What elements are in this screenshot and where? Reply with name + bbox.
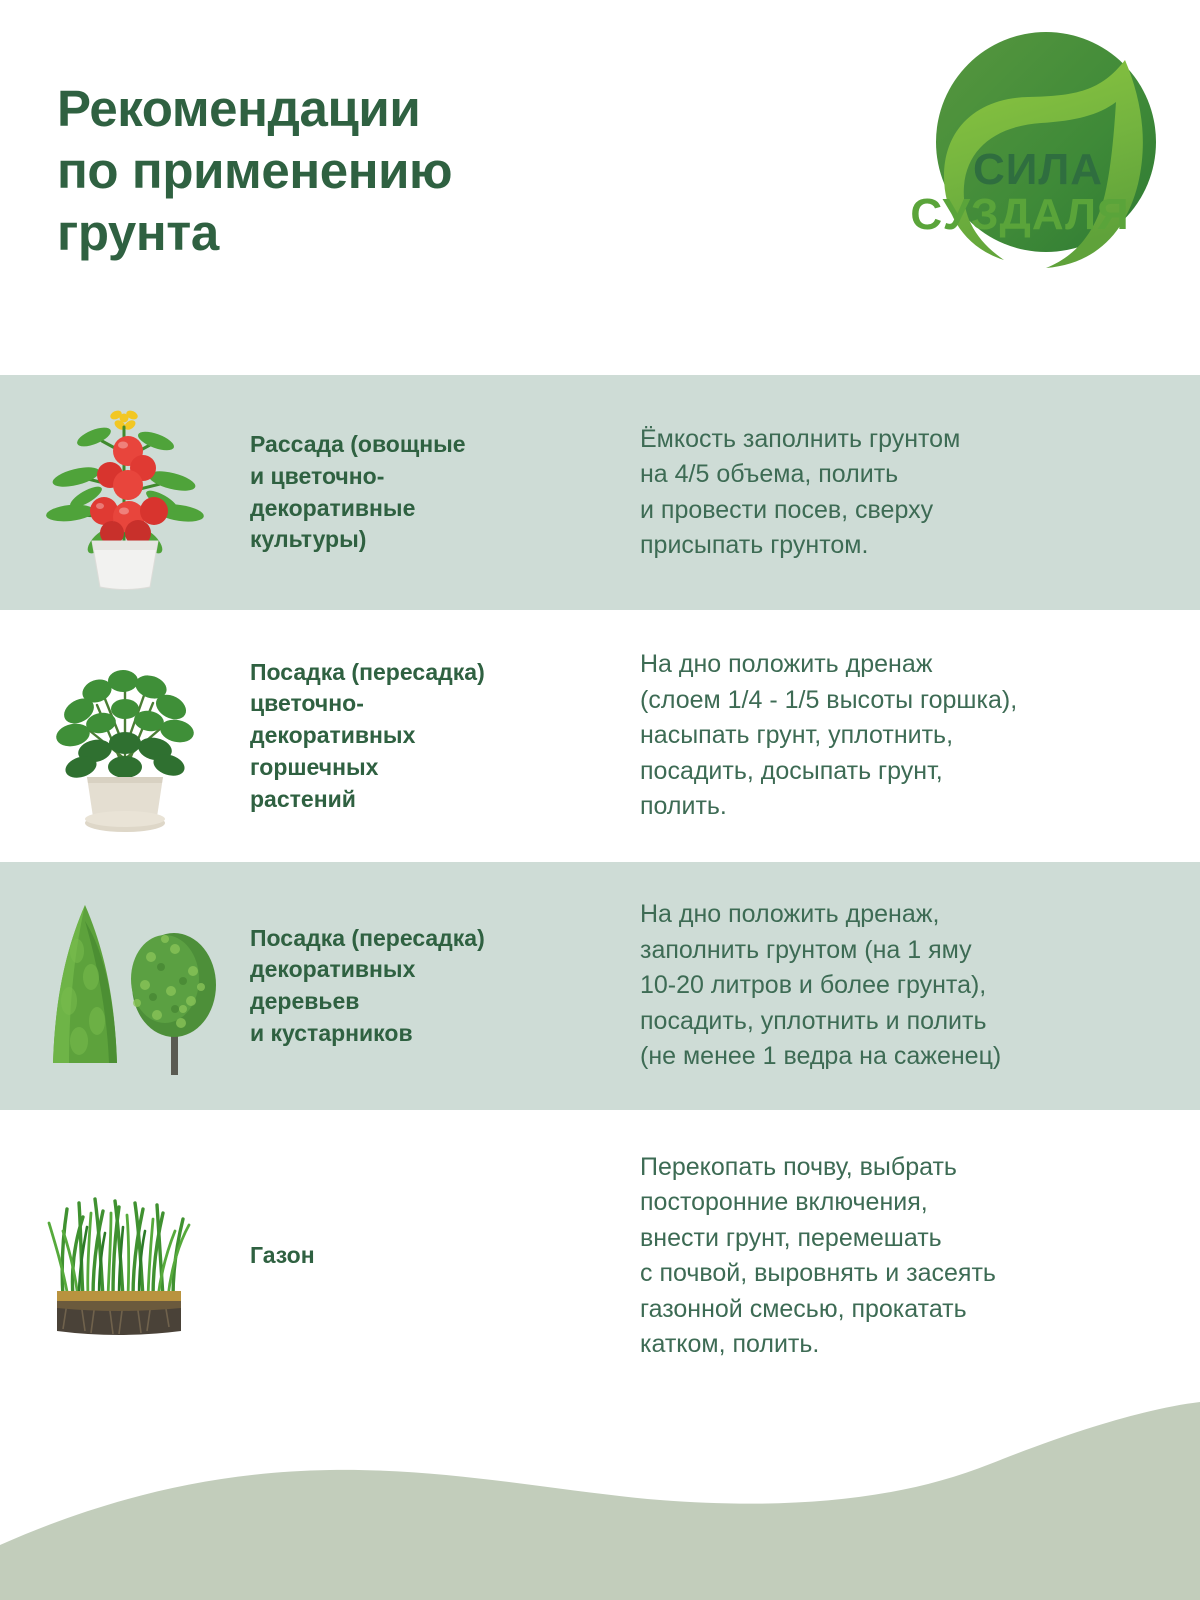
logo-text-suzdalya: СУЗДАЛЯ (910, 190, 1129, 239)
sila-suzdalya-logo: СИЛА СУЗДАЛЯ (900, 16, 1172, 278)
row-image-cell (0, 1110, 250, 1402)
row-image-cell (0, 610, 250, 862)
row-label-cell: Рассада (овощные и цветочно- декоративны… (250, 429, 640, 556)
logo-text-sila: СИЛА (973, 145, 1103, 194)
row-label: Посадка (пересадка) декоративных деревье… (250, 923, 620, 1050)
page-header: Рекомендации по применению грунта (0, 0, 1200, 375)
row-description: На дно положить дренаж (слоем 1/4 - 1/5 … (640, 647, 1160, 825)
page-title: Рекомендации по применению грунта (57, 78, 452, 265)
tomato-seedling-in-pot-image (30, 393, 220, 593)
table-row: Посадка (пересадка) декоративных деревье… (0, 862, 1200, 1110)
row-text-cell: На дно положить дренаж (слоем 1/4 - 1/5 … (640, 647, 1200, 825)
row-label-cell: Посадка (пересадка) цветочно- декоративн… (250, 657, 640, 816)
recommendations-table: Рассада (овощные и цветочно- декоративны… (0, 375, 1200, 1402)
row-label-cell: Газон (250, 1240, 640, 1272)
row-text-cell: На дно положить дренаж, заполнить грунто… (640, 897, 1200, 1075)
table-row: Газон Перекопать почву, выбрать посторон… (0, 1110, 1200, 1402)
row-text-cell: Ёмкость заполнить грунтом на 4/5 объема,… (640, 422, 1200, 564)
table-row: Посадка (пересадка) цветочно- декоративн… (0, 610, 1200, 862)
row-label-cell: Посадка (пересадка) декоративных деревье… (250, 923, 640, 1050)
row-image-cell (0, 375, 250, 610)
wave-shape (0, 1402, 1200, 1600)
table-row: Рассада (овощные и цветочно- декоративны… (0, 375, 1200, 610)
row-label: Рассада (овощные и цветочно- декоративны… (250, 429, 620, 556)
lawn-grass-turf-image (33, 1169, 218, 1344)
row-text-cell: Перекопать почву, выбрать посторонние вк… (640, 1150, 1200, 1363)
row-image-cell (0, 862, 250, 1110)
row-label: Газон (250, 1240, 620, 1272)
bottom-decorative-wave (0, 1380, 1200, 1600)
row-description: Перекопать почву, выбрать посторонние вк… (640, 1150, 1160, 1363)
row-description: На дно положить дренаж, заполнить грунто… (640, 897, 1160, 1075)
ornamental-trees-and-shrubs-image (25, 891, 225, 1081)
row-label: Посадка (пересадка) цветочно- декоративн… (250, 657, 620, 816)
potted-houseplant-image (35, 631, 215, 841)
row-description: Ёмкость заполнить грунтом на 4/5 объема,… (640, 422, 1160, 564)
